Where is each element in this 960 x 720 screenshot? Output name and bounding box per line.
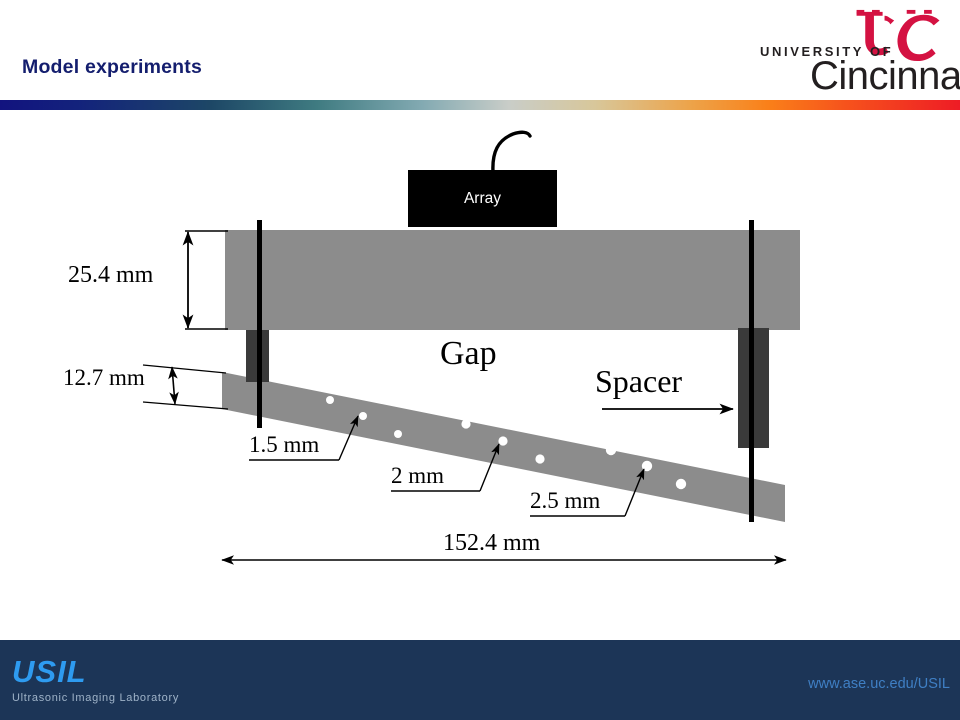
hole-label-2mm: 2 mm [391, 463, 444, 489]
array-transducer: Array [408, 170, 557, 227]
hole [676, 479, 686, 489]
hole [359, 412, 367, 420]
usil-subtitle: Ultrasonic Imaging Laboratory [12, 692, 179, 704]
dimension-label-length: 152.4 mm [443, 530, 540, 557]
test-block [225, 230, 800, 330]
hole [498, 436, 507, 445]
array-label: Array [408, 170, 557, 227]
hole-label-1p5mm: 1.5 mm [249, 432, 319, 458]
logo-cincinnati-text: Cincinnati [810, 56, 960, 96]
dimension-label-bar-thickness: 12.7 mm [63, 365, 145, 391]
hole [606, 445, 616, 455]
hole [326, 396, 334, 404]
university-logo: UNIVERSITY OF Cincinnati [752, 6, 952, 98]
slide: Model experiments UNIVERSITY OF Cincinna… [0, 0, 960, 720]
hole [394, 430, 402, 438]
spacer-left-line [257, 220, 262, 428]
header-gradient-rule [0, 100, 960, 110]
spacer-right-line [749, 220, 754, 522]
experiment-diagram: Array 25.4 mm 12.7 mm 152.4 mm Gap Space… [0, 110, 960, 640]
footer-url-link[interactable]: www.ase.uc.edu/USIL [808, 676, 950, 692]
dimension-label-block-thickness: 25.4 mm [68, 262, 153, 289]
array-cable [493, 132, 530, 172]
page-title: Model experiments [22, 56, 202, 79]
hole [535, 454, 544, 463]
dim-ext-bar-bottom [143, 402, 228, 409]
usil-wordmark: USIL [12, 656, 87, 687]
gap-label: Gap [440, 335, 497, 373]
footer-bar: USIL Ultrasonic Imaging Laboratory www.a… [0, 640, 960, 720]
dim-line-127 [172, 367, 175, 404]
dim-ext-bar-top [143, 365, 226, 373]
hole-label-2p5mm: 2.5 mm [530, 488, 600, 514]
usil-logo: USIL Ultrasonic Imaging Laboratory [10, 656, 240, 708]
hole [461, 419, 470, 428]
spacer-label: Spacer [595, 363, 682, 400]
